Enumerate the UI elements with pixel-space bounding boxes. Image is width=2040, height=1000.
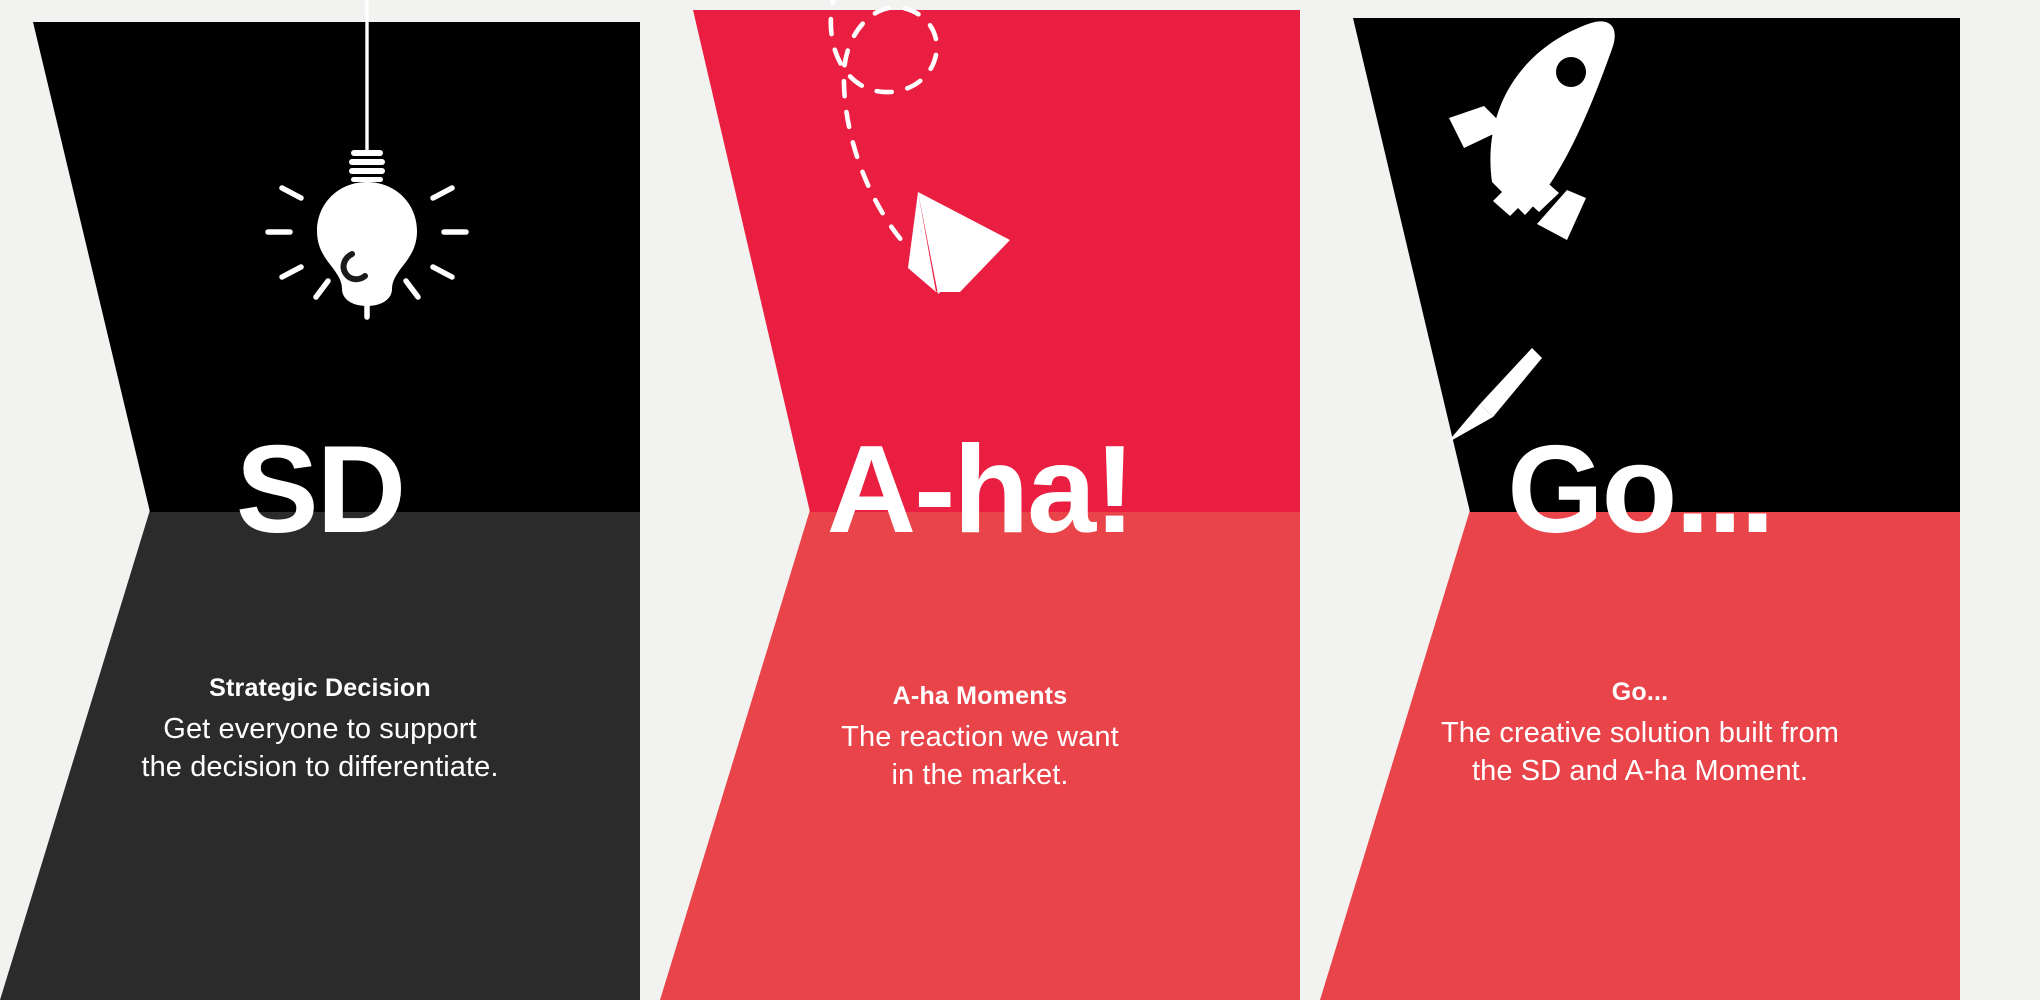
panel-aha-shape [660,0,1300,1000]
panel-go-shape [1320,0,1960,1000]
panel-sd[interactable]: SD Strategic Decision Get everyone to su… [0,0,640,1000]
panel-go[interactable]: Go... Go... The creative solution built … [1320,0,1960,1000]
panel-sd-bottom-shape [0,510,640,1000]
panel-go-top-shape [1353,18,1960,512]
panel-go-bottom-shape [1320,510,1960,1000]
panel-sd-shape [0,0,640,1000]
panel-aha-top-shape [693,10,1300,512]
panel-aha-bottom-shape [660,510,1300,1000]
infographic-board: SD Strategic Decision Get everyone to su… [0,0,2040,1000]
panel-aha[interactable]: A-ha! A-ha Moments The reaction we want … [660,0,1300,1000]
